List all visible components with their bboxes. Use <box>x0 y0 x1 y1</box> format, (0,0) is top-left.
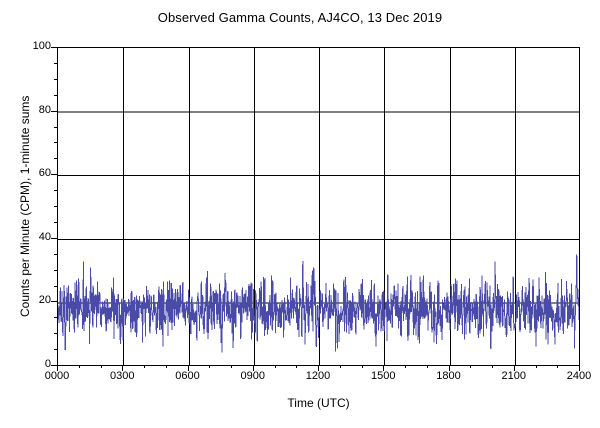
x-tick-mark <box>579 365 580 371</box>
x-tick-mark <box>340 365 341 368</box>
y-tick-label: 60 <box>21 167 51 179</box>
x-tick-label: 1500 <box>358 370 408 382</box>
y-tick-mark <box>54 63 57 64</box>
y-tick-mark <box>54 222 57 223</box>
y-tick-mark <box>51 111 57 112</box>
x-tick-label: 2400 <box>554 370 600 382</box>
x-tick-mark <box>536 365 537 368</box>
y-tick-mark <box>54 79 57 80</box>
x-tick-mark <box>57 365 58 371</box>
y-tick-mark <box>54 254 57 255</box>
x-tick-label: 1800 <box>424 370 474 382</box>
x-tick-label: 1200 <box>293 370 343 382</box>
x-tick-mark <box>296 365 297 368</box>
x-tick-mark <box>188 365 189 371</box>
x-tick-mark <box>318 365 319 371</box>
chart-figure: Observed Gamma Counts, AJ4CO, 13 Dec 201… <box>0 0 600 428</box>
x-tick-mark <box>470 365 471 368</box>
x-tick-mark <box>209 365 210 368</box>
y-tick-mark <box>54 206 57 207</box>
x-tick-mark <box>362 365 363 368</box>
x-tick-label: 0600 <box>163 370 213 382</box>
y-tick-mark <box>54 349 57 350</box>
y-tick-mark <box>51 47 57 48</box>
y-tick-mark <box>54 142 57 143</box>
x-tick-mark <box>101 365 102 368</box>
x-tick-label: 0300 <box>97 370 147 382</box>
x-axis-label: Time (UTC) <box>57 396 580 410</box>
y-tick-label: 20 <box>21 294 51 306</box>
x-tick-mark <box>405 365 406 368</box>
x-tick-mark <box>79 365 80 368</box>
y-tick-mark <box>54 158 57 159</box>
x-tick-mark <box>231 365 232 368</box>
y-tick-mark <box>54 127 57 128</box>
y-axis-label: Counts per Minute (CPM), 1-minute sums <box>18 96 32 317</box>
x-tick-mark <box>557 365 558 368</box>
y-tick-mark <box>54 286 57 287</box>
x-tick-mark <box>492 365 493 368</box>
chart-title: Observed Gamma Counts, AJ4CO, 13 Dec 201… <box>0 10 600 25</box>
x-tick-mark <box>122 365 123 371</box>
x-tick-label: 0000 <box>32 370 82 382</box>
x-tick-mark <box>383 365 384 371</box>
y-tick-mark <box>54 317 57 318</box>
y-tick-mark <box>51 301 57 302</box>
x-tick-mark <box>514 365 515 371</box>
x-tick-mark <box>427 365 428 368</box>
plot-canvas <box>58 48 580 366</box>
x-tick-mark <box>275 365 276 368</box>
y-tick-mark <box>54 190 57 191</box>
plot-area <box>57 47 580 366</box>
x-tick-label: 2100 <box>489 370 539 382</box>
x-tick-mark <box>449 365 450 371</box>
x-tick-mark <box>166 365 167 368</box>
y-tick-mark <box>54 270 57 271</box>
x-tick-mark <box>253 365 254 371</box>
y-tick-label: 40 <box>21 231 51 243</box>
y-tick-mark <box>51 365 57 366</box>
x-tick-label: 0900 <box>228 370 278 382</box>
y-tick-label: 100 <box>21 40 51 52</box>
y-tick-label: 80 <box>21 104 51 116</box>
x-tick-mark <box>144 365 145 368</box>
y-tick-mark <box>54 95 57 96</box>
y-tick-mark <box>51 238 57 239</box>
y-tick-mark <box>51 174 57 175</box>
y-tick-label: 0 <box>21 358 51 370</box>
y-tick-mark <box>54 333 57 334</box>
